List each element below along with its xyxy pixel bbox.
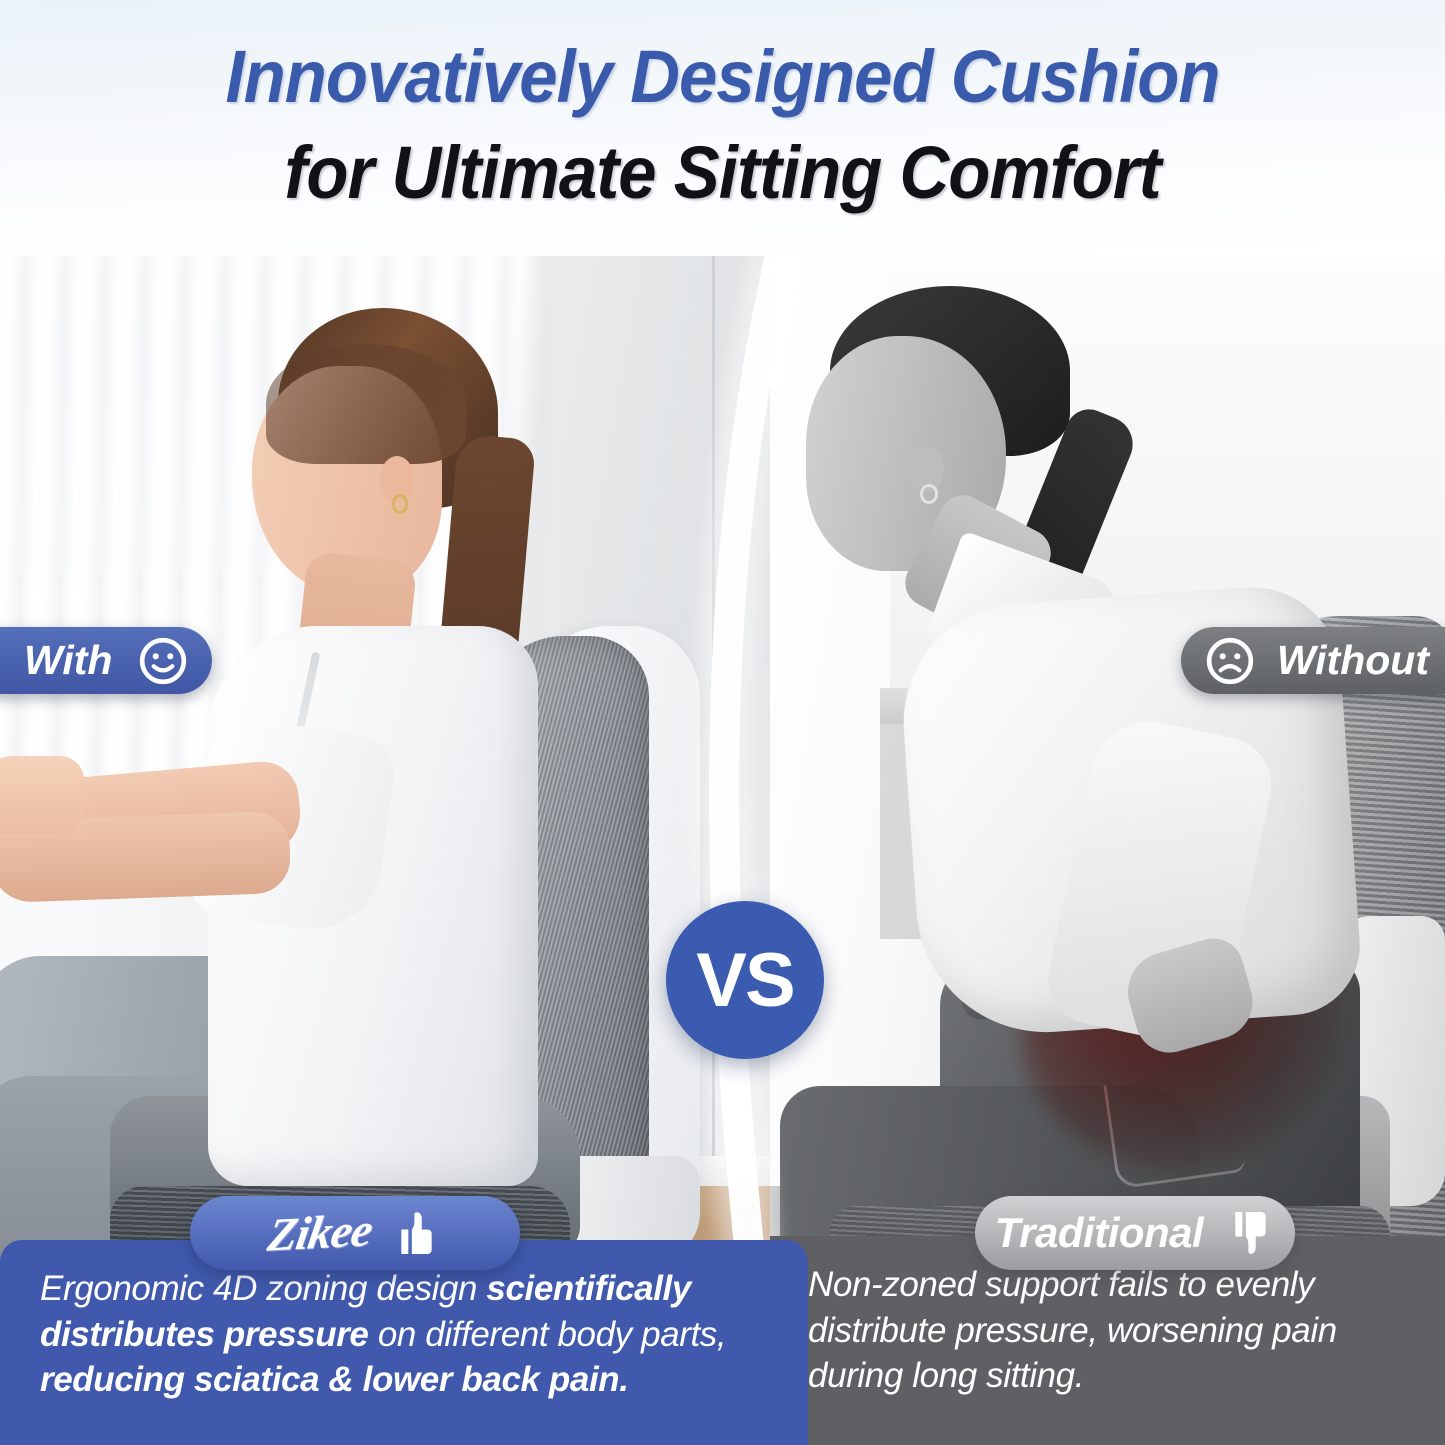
traditional-label: Traditional bbox=[995, 1209, 1203, 1257]
vs-badge: VS bbox=[666, 901, 824, 1059]
smiley-face-icon bbox=[138, 636, 188, 686]
brand-badge-zikee[interactable]: Zikee bbox=[190, 1196, 520, 1270]
earring-icon bbox=[392, 494, 408, 514]
left-person-fringe bbox=[266, 344, 466, 464]
left-person-hand bbox=[0, 756, 84, 834]
earring-icon bbox=[920, 484, 938, 504]
with-badge-label: With bbox=[24, 637, 112, 684]
thumbs-up-icon bbox=[385, 1205, 441, 1261]
with-badge[interactable]: With bbox=[0, 627, 212, 694]
frowning-face-icon bbox=[1205, 636, 1255, 686]
right-caption-text: Non-zoned support fails to evenly distri… bbox=[808, 1262, 1418, 1399]
traditional-badge[interactable]: Traditional bbox=[975, 1196, 1295, 1270]
product-comparison-image: Innovatively Designed Cushion for Ultima… bbox=[0, 0, 1445, 1445]
headline-line-2: for Ultimate Sitting Comfort bbox=[51, 130, 1395, 215]
vs-label: VS bbox=[696, 937, 793, 1024]
header-banner: Innovatively Designed Cushion for Ultima… bbox=[0, 0, 1445, 256]
thumbs-down-icon bbox=[1219, 1205, 1275, 1261]
without-badge-label: Without bbox=[1277, 637, 1429, 684]
left-caption-panel: Ergonomic 4D zoning design scientificall… bbox=[0, 1240, 808, 1445]
left-caption-text: Ergonomic 4D zoning design scientificall… bbox=[40, 1266, 755, 1403]
headline-line-1: Innovatively Designed Cushion bbox=[51, 34, 1395, 119]
brand-name-label: Zikee bbox=[264, 1203, 376, 1262]
without-badge[interactable]: Without bbox=[1181, 627, 1445, 694]
